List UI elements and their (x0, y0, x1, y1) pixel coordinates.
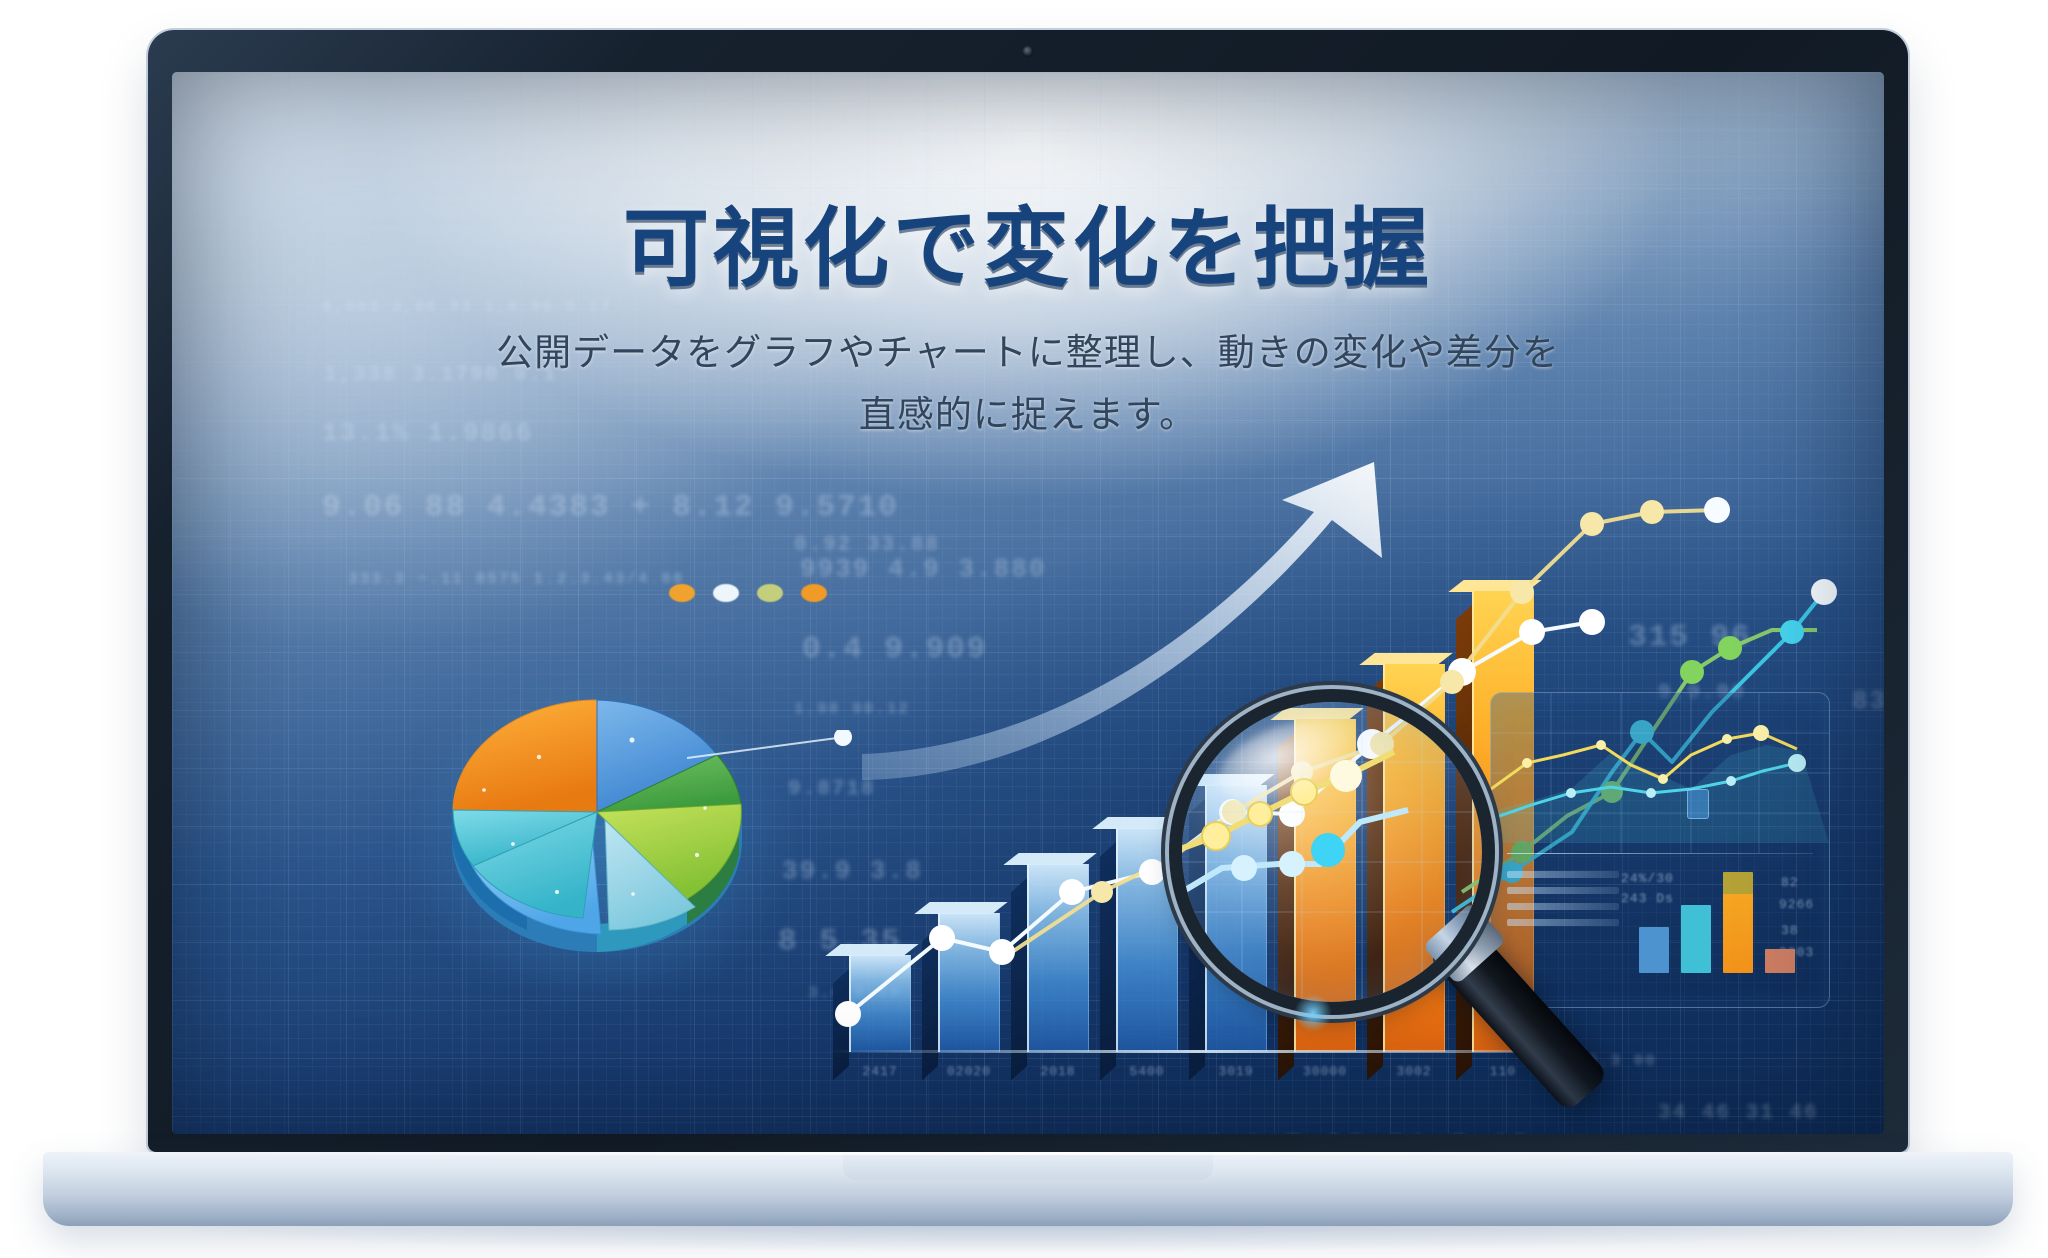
laptop-base-notch (843, 1152, 1213, 1180)
laptop-device: 8,503 3,86.93 1,9.90 5.171,338 3.1790 0.… (148, 30, 1908, 1160)
screenshot-root: 8,503 3,86.93 1,9.90 5.171,338 3.1790 0.… (0, 0, 2048, 1258)
laptop-lid: 8,503 3,86.93 1,9.90 5.171,338 3.1790 0.… (148, 30, 1908, 1152)
screen-vignette (172, 72, 1884, 1134)
laptop-base (43, 1152, 2013, 1226)
webcam-icon (1023, 46, 1034, 57)
laptop-screen: 8,503 3,86.93 1,9.90 5.171,338 3.1790 0.… (172, 72, 1884, 1134)
